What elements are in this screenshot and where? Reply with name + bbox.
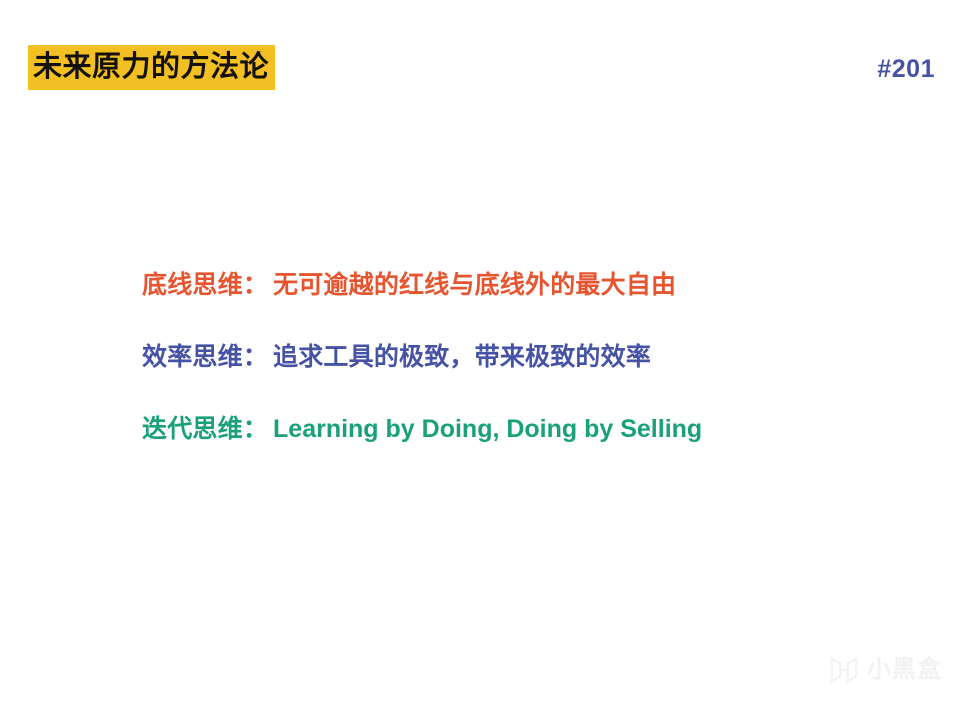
point-label: 迭代思维 [142,415,243,443]
watermark-text: 小黑盒 [867,655,942,685]
page-number-badge: #201 [877,54,935,84]
point-label: 效率思维 [142,343,243,371]
page-title: 未来原力的方法论 [28,45,275,90]
point-text: Learning by Doing, Doing by Selling [273,415,702,443]
point-line-iteration-thinking: 迭代思维：Learning by Doing, Doing by Selling [142,412,902,446]
point-separator: ： [243,415,273,443]
point-text: 追求工具的极致，带来极致的效率 [273,343,651,371]
xiaoheihe-logo-icon [829,654,859,686]
watermark: 小黑盒 [829,654,942,686]
point-separator: ： [243,343,273,371]
point-label: 底线思维 [142,271,243,299]
point-line-efficiency-thinking: 效率思维：追求工具的极致，带来极致的效率 [142,340,902,374]
point-separator: ： [243,271,273,299]
slide-canvas: 未来原力的方法论 #201 底线思维：无可逾越的红线与底线外的最大自由 效率思维… [0,0,972,708]
point-text: 无可逾越的红线与底线外的最大自由 [273,271,676,299]
point-line-bottom-line-thinking: 底线思维：无可逾越的红线与底线外的最大自由 [142,268,902,302]
slide-header: 未来原力的方法论 #201 [0,0,972,130]
page-title-container: 未来原力的方法论 [28,45,275,90]
slide-content: 底线思维：无可逾越的红线与底线外的最大自由 效率思维：追求工具的极致，带来极致的… [142,268,902,446]
